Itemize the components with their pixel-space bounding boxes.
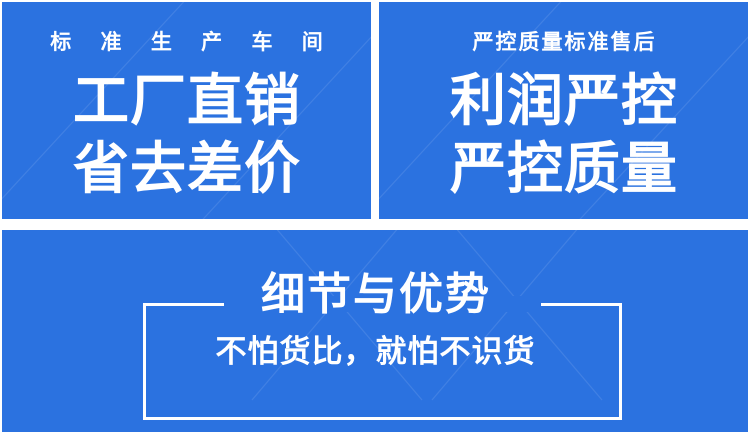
panel-quality-control: 严控质量标准售后 利润严控 严控质量 [379,2,748,219]
panel-details-advantages: 细节与优势 不怕货比，就怕不识货 [2,230,748,432]
panel-right-headline-line2: 严控质量 [379,142,748,198]
panel-right-eyebrow: 严控质量标准售后 [379,32,748,53]
bottom-panel-title: 细节与优势 [2,273,748,317]
promo-banner: 标 准 生 产 车 间 工厂直销 省去差价 严控质量标准售后 利润严控 严控质量… [0,0,750,440]
panel-factory-direct: 标 准 生 产 车 间 工厂直销 省去差价 [2,2,371,219]
panel-left-headline-line1: 工厂直销 [2,74,371,130]
panel-left-eyebrow: 标 准 生 产 车 间 [2,32,371,53]
panel-left-headline-line2: 省去差价 [2,142,371,198]
panel-right-headline-line1: 利润严控 [379,74,748,130]
bottom-panel-subtitle: 不怕货比，就怕不识货 [2,337,748,368]
